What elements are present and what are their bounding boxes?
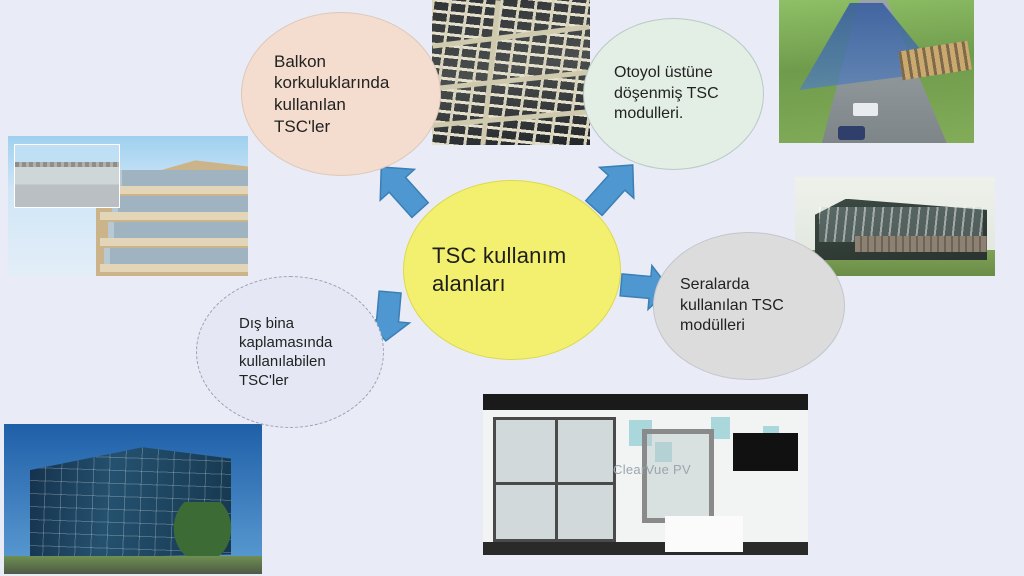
diagram-canvas: ClearVue PV Balkon kork xyxy=(0,0,1024,576)
photo-solar-canopy xyxy=(432,0,590,145)
node-highway-label: Otoyol üstüne döşenmiş TSC modulleri. xyxy=(584,63,763,124)
node-highway[interactable]: Otoyol üstüne döşenmiş TSC modulleri. xyxy=(583,18,764,170)
node-greenhouse-label: Seralarda kullanılan TSC modülleri xyxy=(654,275,844,336)
node-center[interactable]: TSC kullanım alanları xyxy=(403,180,621,360)
node-center-label: TSC kullanım alanları xyxy=(404,242,620,298)
booth-brand-text: ClearVue PV xyxy=(613,462,691,477)
node-facade-label: Dış bina kaplamasında kullanılabilen TSC… xyxy=(197,314,383,391)
photo-balcony-building xyxy=(8,136,248,276)
photo-clearvue-booth: ClearVue PV xyxy=(483,394,808,555)
node-facade[interactable]: Dış bina kaplamasında kullanılabilen TSC… xyxy=(196,276,384,428)
node-balcony-label: Balkon korkuluklarında kullanılan TSC'le… xyxy=(242,51,440,138)
photo-pv-facade-building xyxy=(4,424,262,574)
node-balcony[interactable]: Balkon korkuluklarında kullanılan TSC'le… xyxy=(241,12,441,176)
node-greenhouse[interactable]: Seralarda kullanılan TSC modülleri xyxy=(653,232,845,380)
photo-highway-canopy xyxy=(779,0,974,143)
